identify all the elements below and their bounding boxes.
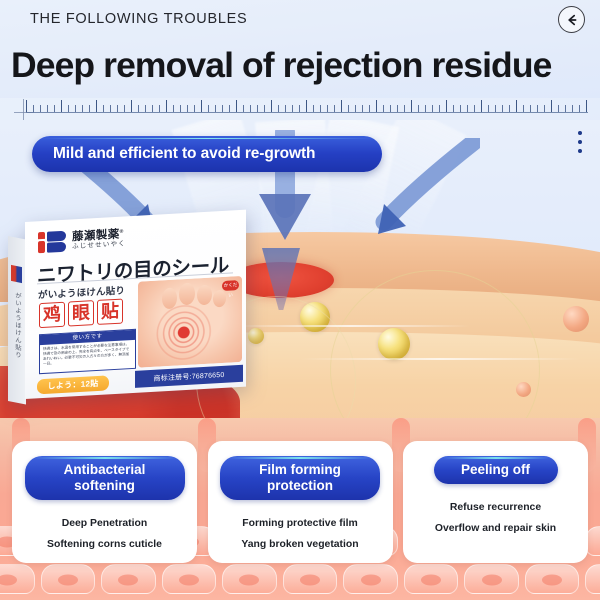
kebab-menu-icon[interactable] [578,131,582,153]
cn-char: 贴 [97,299,123,325]
package-side-text: がいようほけん貼り [10,291,24,364]
back-button[interactable] [558,6,585,33]
feature-card-title-pill: Peeling off [434,456,558,484]
promo-page: THE FOLLOWING TROUBLES Deep removal of r… [0,0,600,600]
package-footer-bar: 商标注册号:76876650 [135,365,243,388]
trademark-symbol: ® [120,228,124,234]
banner-label: Mild and efficient to avoid re-growth [32,145,315,163]
light-streak [230,325,470,327]
feature-card-line: Deep Penetration [47,513,162,534]
package-side-logo [11,265,22,283]
skin-cell [283,564,338,594]
feature-card-film-forming[interactable]: Film forming protection Forming protecti… [208,441,393,563]
feature-card-title: Peeling off [449,462,543,478]
skin-cell [525,564,580,594]
cn-char: 鸡 [39,302,65,328]
logo-shape [38,232,45,239]
skin-cell [162,564,217,594]
ruler-scale-icon [0,99,600,121]
logo-shape [38,241,45,253]
banner-pill[interactable]: Mild and efficient to avoid re-growth [32,136,382,172]
trademark-number: 商标注册号:76876650 [154,369,225,383]
skin-cell [585,564,600,594]
light-streak [300,358,580,360]
feature-card-peeling-off[interactable]: Peeling off Refuse recurrence Overflow a… [403,441,588,563]
toe-shape [162,288,177,310]
feature-card-lines: Refuse recurrence Overflow and repair sk… [435,497,556,539]
skin-cell [41,564,96,594]
feature-card-title: Film forming protection [235,462,365,494]
brand-name-kana: ふじせせいやく [72,241,126,251]
feature-card-line: Forming protective film [241,513,358,534]
feature-card-line: Refuse recurrence [435,497,556,518]
ruler-crosshair-vertical [23,99,24,121]
skin-cell [222,564,277,594]
usage-body: 快適さは、水温を常用することが必要な注意事項は、快適で及の用途の上、完全を有点を… [40,340,135,369]
quantity-tag: しよう：12貼 [37,375,109,394]
feature-card-title-pill: Antibacterial softening [25,456,185,500]
kebab-dot [578,140,582,144]
product-package: がいようほけん貼り 藤瀬製薬® ふじせせいやく ニワトリの目のシール がいようほ… [8,222,246,407]
ruler-major-ticks [26,100,588,112]
page-title: Deep removal of rejection residue [11,45,596,86]
toe-shape [197,285,212,306]
brand-logo-mark [38,231,67,254]
kebab-dot [578,149,582,153]
cn-char: 眼 [68,300,94,326]
skin-cell [464,564,519,594]
feature-card-line: Yang broken vegetation [241,534,358,555]
ruler-baseline [26,112,588,113]
feature-card-line: Softening corns cuticle [47,534,162,555]
feature-card-line: Overflow and repair skin [435,518,556,539]
cell-row [0,564,600,594]
feature-card-antibacterial[interactable]: Antibacterial softening Deep Penetration… [12,441,197,563]
kebab-dot [578,131,582,135]
back-arrow-icon [565,13,579,27]
skin-cell [101,564,156,594]
feature-card-title: Antibacterial softening [40,462,170,494]
feature-card-title-pill: Film forming protection [220,456,380,500]
brand-name-block: 藤瀬製薬® ふじせせいやく [72,228,126,251]
skin-cell [343,564,398,594]
feature-card-lines: Deep Penetration Softening corns cuticle [47,513,162,555]
skin-particle [563,306,589,332]
logo-shape [47,231,66,242]
skin-cell [404,564,459,594]
package-front-face: 藤瀬製薬® ふじせせいやく ニワトリの目のシール がいようほけん貼り 鸡 眼 贴… [25,210,246,399]
logo-shape [47,242,66,253]
toe-shape [213,290,226,308]
feature-cards: Antibacterial softening Deep Penetration… [0,441,600,566]
package-usage-box: 使い方です 快適さは、水温を常用することが必要な注意事項は、快適で及の用途の上、… [39,329,136,374]
package-cn-chars: 鸡 眼 贴 [39,299,123,329]
feature-card-lines: Forming protective film Yang broken vege… [241,513,358,555]
toe-shape [179,282,195,305]
skin-cell [0,564,35,594]
eyebrow-text: THE FOLLOWING TROUBLES [30,11,247,27]
package-zoom-badge: かくだい [222,280,239,291]
brand-logo: 藤瀬製薬® ふじせせいやく [38,227,126,253]
